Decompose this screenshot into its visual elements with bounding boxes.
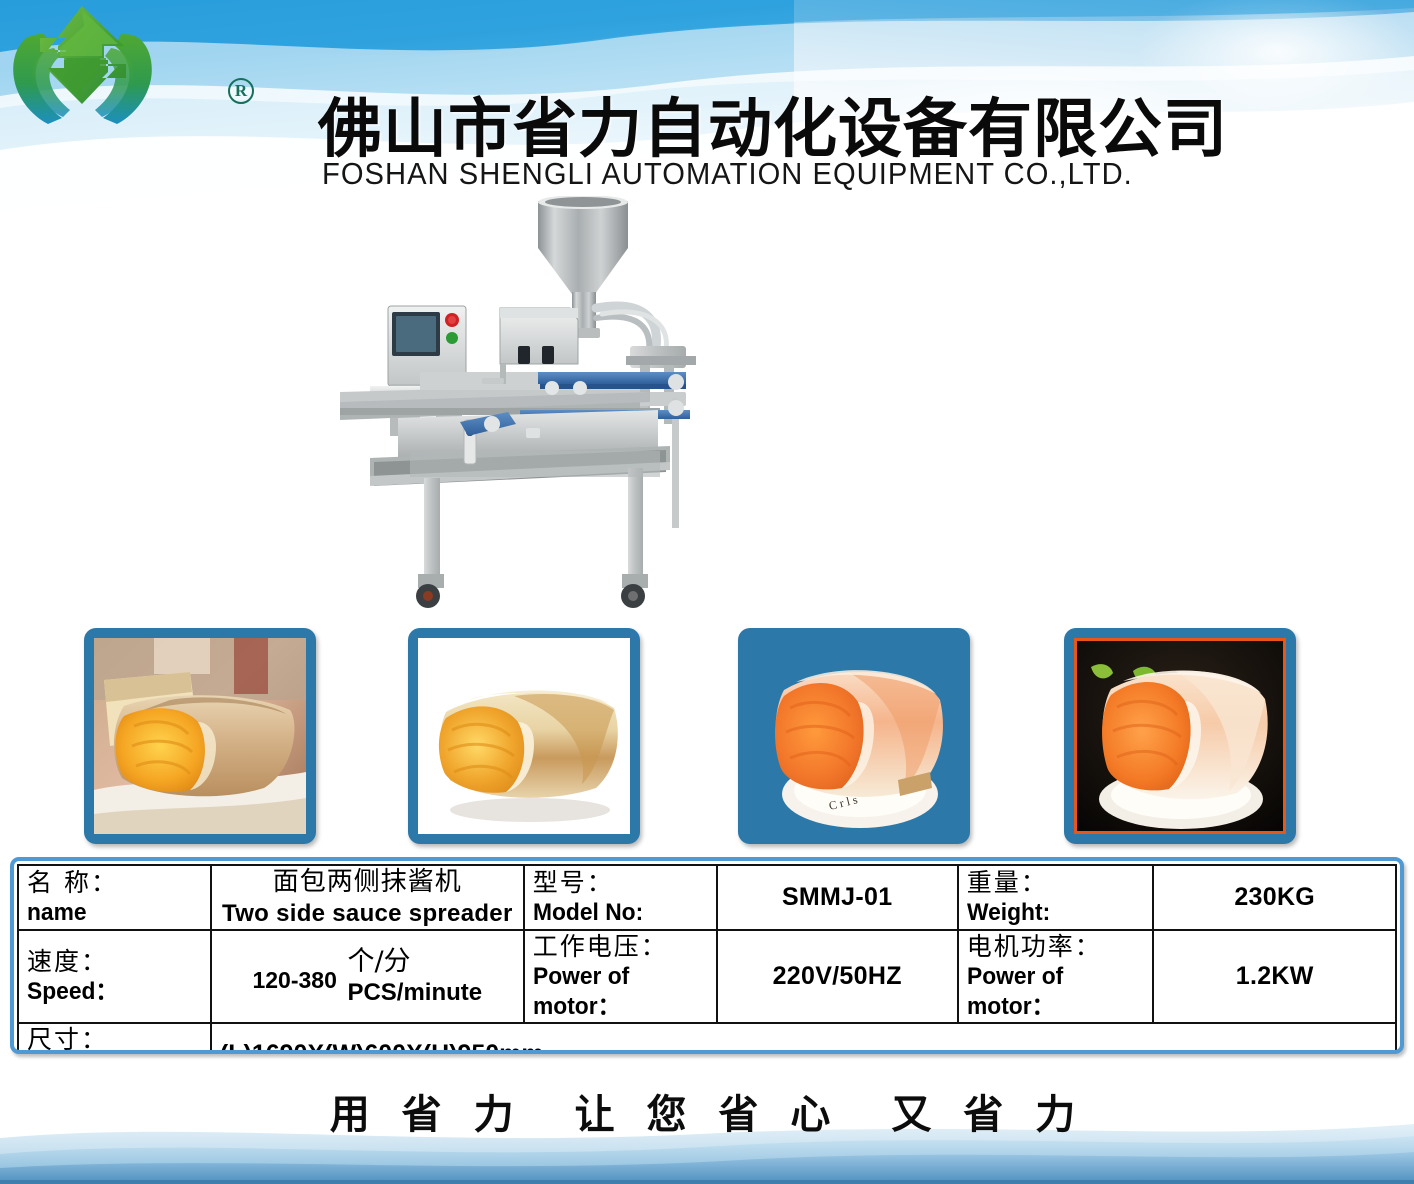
speed-label-en: Speed： (27, 977, 193, 1007)
cell-voltage-label: 工作电压： Power of motor： (524, 930, 717, 1023)
company-logo (0, 0, 165, 125)
cell-weight-label: 重量： Weight: (958, 865, 1154, 930)
cell-name-label: 名 称： name (18, 865, 211, 930)
table-row: 名 称： name 面包两侧抹酱机 Two side sauce spreade… (18, 865, 1396, 930)
registered-trademark-icon: R (228, 78, 254, 104)
gallery-item-4[interactable] (1064, 628, 1296, 844)
motor-power-label-cn: 电机功率： (967, 931, 1145, 962)
model-label-en: Model No: (533, 898, 699, 928)
name-value-en: Two side sauce spreader (220, 899, 515, 929)
cell-model-label: 型号： Model No: (524, 865, 717, 930)
bread-roll-photo-2 (418, 638, 630, 834)
cell-name-value: 面包两侧抹酱机 Two side sauce spreader (211, 865, 524, 930)
cell-weight-value: 230KG (1153, 865, 1396, 930)
slogan-part-2: 让 您 省 心 (575, 1092, 840, 1138)
cell-speed-value: 120-380 个/分 PCS/minute (211, 930, 524, 1023)
weight-label-en: Weight: (967, 898, 1136, 928)
gallery-item-3[interactable]: C r l s (738, 628, 970, 844)
company-title-english: FOSHAN SHENGLI AUTOMATION EQUIPMENT CO.,… (322, 156, 1133, 192)
cell-dimension-label: 尺寸： Dimension: (18, 1023, 211, 1054)
cell-voltage-value: 220V/50HZ (717, 930, 958, 1023)
cell-speed-label: 速度： Speed： (18, 930, 211, 1023)
cell-motor-power-label: 电机功率： Power of motor： (958, 930, 1154, 1023)
weight-label-cn: 重量： (967, 867, 1145, 898)
speed-label-cn: 速度： (27, 946, 202, 977)
cell-dimension-value: (L)1690X(W)600X(H)950mm (211, 1023, 1396, 1054)
catalog-page: R 佛山市省力自动化设备有限公司 FOSHAN SHENGLI AUTOMATI… (0, 0, 1414, 1184)
name-label-en: name (27, 898, 193, 928)
table-row: 尺寸： Dimension: (L)1690X(W)600X(H)950mm (18, 1023, 1396, 1054)
bread-roll-photo-3: C r l s (748, 638, 960, 834)
model-label-cn: 型号： (533, 867, 708, 898)
company-slogan: 用 省 力让 您 省 心又 省 力 (0, 1082, 1414, 1140)
dimension-label-cn: 尺寸： (27, 1024, 202, 1054)
bread-roll-photo-1 (94, 638, 306, 834)
specification-table-container: 名 称： name 面包两侧抹酱机 Two side sauce spreade… (10, 857, 1404, 1054)
product-gallery: C r l s (0, 628, 1414, 850)
motor-power-label-en: Power of motor： (967, 962, 1136, 1022)
product-machine-photo (340, 196, 1060, 626)
gallery-item-1[interactable] (84, 628, 316, 844)
name-label-cn: 名 称： (27, 867, 202, 898)
header-banner: R 佛山市省力自动化设备有限公司 FOSHAN SHENGLI AUTOMATI… (0, 0, 1414, 215)
table-row: 速度： Speed： 120-380 个/分 PCS/minute 工作电压： … (18, 930, 1396, 1023)
bread-roll-photo-4 (1074, 638, 1286, 834)
gallery-item-2[interactable] (408, 628, 640, 844)
voltage-label-cn: 工作电压： (533, 931, 708, 962)
cell-motor-power-value: 1.2KW (1153, 930, 1396, 1023)
specification-table: 名 称： name 面包两侧抹酱机 Two side sauce spreade… (17, 864, 1397, 1054)
cell-model-value: SMMJ-01 (717, 865, 958, 930)
speed-value-number: 120-380 (252, 967, 336, 994)
name-value-cn: 面包两侧抹酱机 (220, 866, 515, 899)
slogan-part-1: 用 省 力 (330, 1092, 523, 1138)
slogan-part-3: 又 省 力 (891, 1092, 1084, 1138)
voltage-label-en: Power of motor： (533, 962, 699, 1022)
